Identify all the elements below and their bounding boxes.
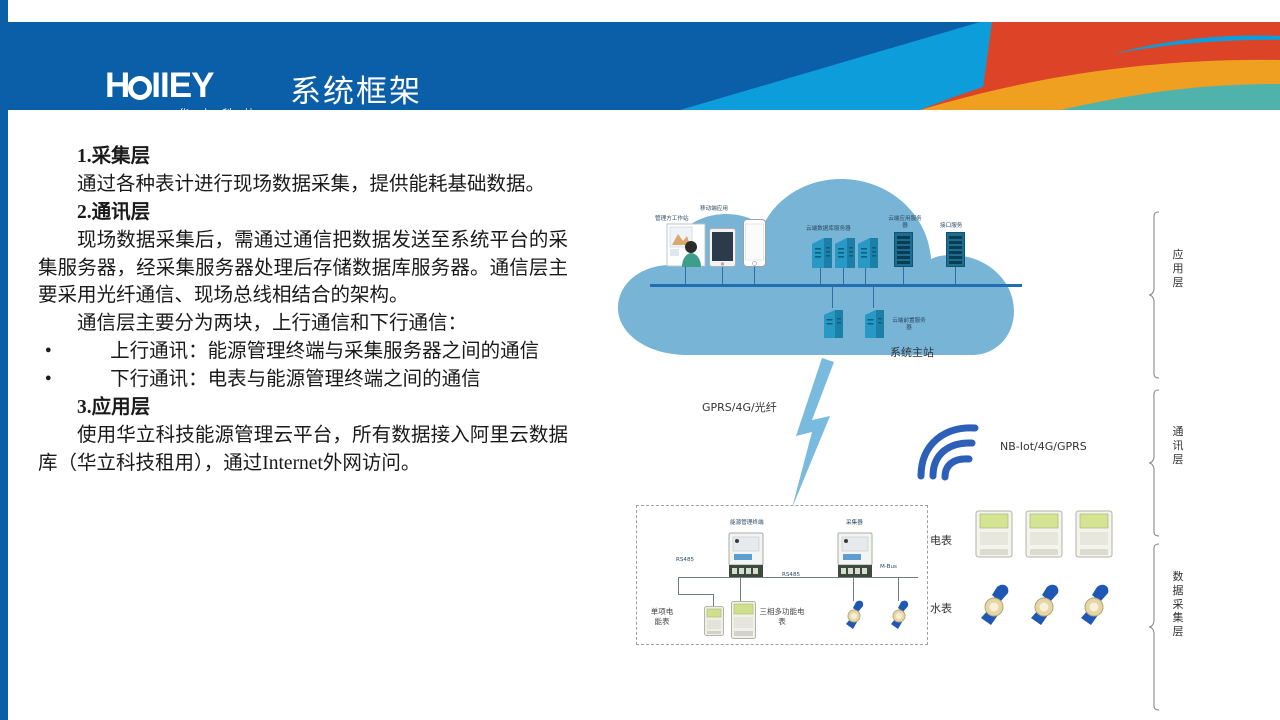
workstation-icon: [666, 223, 706, 267]
layer-bracket-application: [1148, 210, 1170, 380]
holley-logo: HIIEY T E C H 华 立 科 技: [105, 68, 265, 110]
section-heading-collection: 1.采集层: [38, 143, 568, 171]
label-uplink-technology: GPRS/4G/光纤: [702, 399, 777, 415]
cloud-database-servers-icon: [810, 236, 880, 270]
cloud-droplink: [754, 265, 755, 285]
label-data-collector: 采集器: [846, 518, 863, 526]
cloud-droplink: [865, 268, 866, 285]
page-title: 系统框架: [290, 66, 422, 110]
label-system-master-station: 系统主站: [890, 344, 934, 360]
water-meter-icon: [1027, 582, 1061, 626]
data-collector-icon: [837, 532, 873, 578]
label-cloud-frontend-server: 云端前置服务器: [892, 318, 926, 332]
list-item-uplink: •上行通讯：能源管理终端与采集服务器之间的通信: [38, 338, 568, 366]
section-body-collection: 通过各种表计进行现场数据采集，提供能耗基础数据。: [38, 171, 568, 199]
tablet-icon: [709, 228, 736, 267]
label-application-layer: 应用层: [1172, 248, 1184, 289]
water-meter-icon: [977, 582, 1011, 626]
bullet-dot-icon: •: [45, 366, 52, 394]
label-wireless-technology: NB-Iot/4G/GPRS: [1000, 440, 1087, 453]
electricity-meter-icon: [1075, 510, 1113, 558]
single-phase-meter-icon: [704, 606, 724, 636]
cloud-droplink: [820, 268, 821, 285]
label-mbus: M-Bus: [880, 564, 897, 570]
cloud-application-server-icon: [894, 232, 913, 267]
cloud-droplink: [843, 268, 844, 285]
system-architecture-diagram: 管理方工作站 移动端应用 云端数据库服务器 云端应用服务器 接口服务 云端前置服…: [600, 120, 1280, 700]
water-meter-icon: [843, 598, 865, 630]
interface-service-server-icon: [946, 232, 965, 267]
label-three-phase-meter: 三相多功能电表: [759, 607, 805, 627]
energy-management-terminal-icon: [728, 532, 764, 578]
label-rs485-mid: RS485: [782, 572, 800, 578]
smartphone-icon: [743, 219, 766, 267]
label-electricity-meters: 电表: [930, 532, 952, 548]
logo-o-ring: [128, 76, 152, 100]
label-management-workstation: 管理方工作站: [655, 214, 689, 222]
cloud-droplink: [955, 265, 956, 285]
label-rs485-left: RS485: [676, 557, 694, 563]
lightning-bolt-icon: [782, 358, 842, 508]
meter-droplink: [678, 577, 679, 595]
cloud-droplink: [903, 265, 904, 285]
cloud-frontend-servers-icon: [822, 308, 892, 340]
section-heading-application: 3.应用层: [38, 394, 568, 422]
bullet-dot-icon: •: [45, 338, 52, 366]
list-item-downlink-label: 下行通讯：电表与能源管理终端之间的通信: [110, 369, 481, 390]
header-swoosh-decoration: [620, 22, 1280, 110]
cloud-droplink: [832, 286, 833, 308]
list-item-uplink-label: 上行通讯：能源管理终端与采集服务器之间的通信: [110, 341, 539, 362]
cloud-shape: [610, 170, 1050, 370]
wifi-signal-icon: [915, 422, 985, 482]
cloud-droplink: [722, 265, 723, 285]
cloud-droplink: [685, 265, 686, 285]
label-water-meters: 水表: [930, 600, 952, 616]
electricity-meter-icon: [975, 510, 1013, 558]
label-cloud-database-server: 云端数据库服务器: [806, 224, 851, 232]
electricity-meter-icon: [1025, 510, 1063, 558]
label-energy-management-terminal: 能源管理终端: [730, 518, 764, 526]
section-body-communication: 现场数据采集后，需通过通信把数据发送至系统平台的采集服务器，经采集服务器处理后存…: [38, 227, 568, 311]
label-cloud-application-server: 云端应用服务器: [888, 216, 922, 230]
layer-bracket-data-collection: [1148, 542, 1170, 712]
logo-wordmark: HIIEY: [105, 68, 265, 103]
cloud-bus-line: [650, 284, 1022, 287]
label-interface-service: 接口服务: [940, 221, 962, 229]
label-data-collection-layer: 数据采集层: [1172, 570, 1184, 639]
logo-subtext: T E C H 华 立 科 技: [105, 106, 265, 111]
label-communication-layer: 通讯层: [1172, 425, 1184, 466]
slide-header: HIIEY T E C H 华 立 科 技 系统框架: [0, 22, 1280, 110]
section-heading-communication: 2.通讯层: [38, 199, 568, 227]
label-single-phase-meter: 单项电能表: [649, 607, 675, 627]
content-text-column: 1.采集层 通过各种表计进行现场数据采集，提供能耗基础数据。 2.通讯层 现场数…: [38, 143, 568, 478]
three-phase-meter-icon: [731, 601, 756, 639]
water-meter-icon: [1077, 582, 1111, 626]
layer-bracket-communication: [1148, 388, 1170, 538]
list-item-downlink: •下行通讯：电表与能源管理终端之间的通信: [38, 366, 568, 394]
meter-droplink: [678, 594, 714, 595]
label-mobile-application: 移动端应用: [700, 204, 728, 212]
water-meter-icon: [888, 598, 910, 630]
cloud-droplink: [873, 286, 874, 308]
section-body-application: 使用华立科技能源管理云平台，所有数据接入阿里云数据库（华立科技租用），通过Int…: [38, 422, 568, 478]
section-body-communication-split: 通信层主要分为两块，上行通信和下行通信：: [38, 310, 568, 338]
